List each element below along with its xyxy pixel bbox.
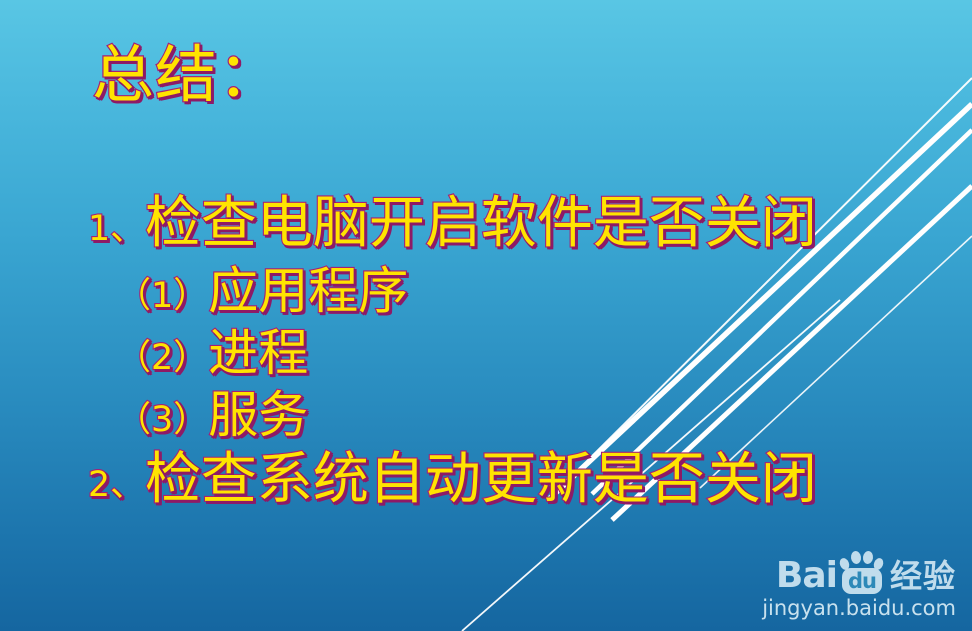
watermark-logo-row: Bai du 经验	[762, 550, 956, 594]
list-item-2: 2、检查系统自动更新是否关闭	[88, 452, 948, 508]
list-text-sub-2: 进程	[208, 324, 308, 382]
page-title: 总结：	[92, 44, 281, 106]
list-text-sub-1: 应用程序	[208, 262, 408, 320]
list-item-sub-1: （1）应用程序	[88, 266, 948, 316]
paw-pad-du-label: du	[842, 568, 882, 594]
list-marker-sub-2: （2）	[116, 338, 208, 378]
slide-canvas: 总结： 1、检查电脑开启软件是否关闭 （1）应用程序 （2）进程 （3）服务 2…	[0, 0, 972, 631]
list-item-1: 1、检查电脑开启软件是否关闭	[88, 196, 948, 252]
slide-content: 总结： 1、检查电脑开启软件是否关闭 （1）应用程序 （2）进程 （3）服务 2…	[0, 0, 972, 631]
list-marker-sub-1: （1）	[116, 276, 208, 316]
list-marker-sub-3: （3）	[116, 400, 208, 440]
list-item-sub-3: （3）服务	[88, 390, 948, 440]
paw-toe-2	[850, 550, 862, 564]
jingyan-wordmark-cn: 经验	[890, 558, 956, 594]
paw-toe-3	[862, 550, 874, 564]
list-item-sub-2: （2）进程	[88, 328, 948, 378]
list-text-2: 检查系统自动更新是否关闭	[145, 447, 817, 512]
baidu-jingyan-watermark: Bai du 经验 jingyan.baidu.com	[762, 550, 956, 621]
list-marker-2: 2、	[88, 465, 145, 505]
outline-list: 1、检查电脑开启软件是否关闭 （1）应用程序 （2）进程 （3）服务 2、检查系…	[88, 196, 948, 522]
paw-print-icon: du	[838, 550, 884, 594]
list-text-1: 检查电脑开启软件是否关闭	[145, 191, 817, 256]
list-marker-1: 1、	[88, 209, 145, 249]
list-text-sub-3: 服务	[208, 386, 308, 444]
baidu-wordmark: Bai	[776, 558, 837, 594]
watermark-url: jingyan.baidu.com	[762, 595, 956, 621]
